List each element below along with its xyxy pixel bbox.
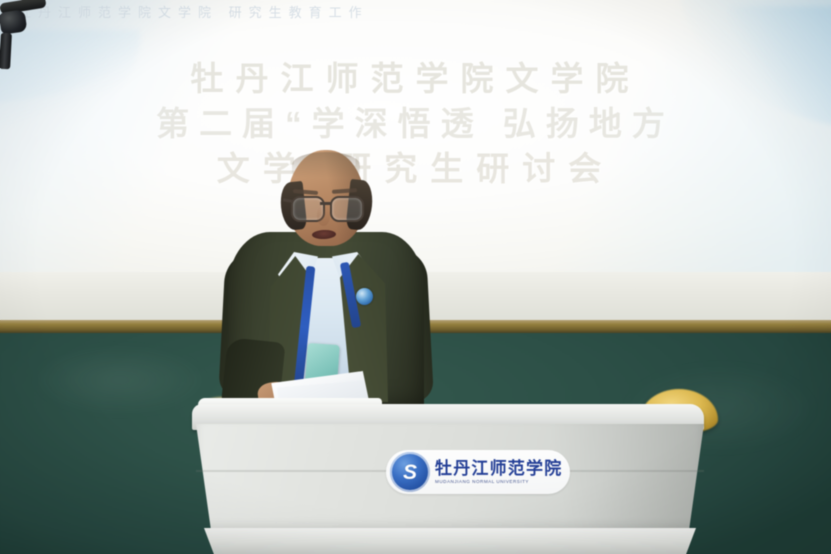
slide-title: 牡丹江师范学院文学院 第二届“学深悟透 弘扬地方 文学”研究生研讨会 xyxy=(0,56,831,191)
university-logo-text: 牡丹江师范学院 MUDANJIANG NORMAL UNIVERSITY xyxy=(435,460,562,485)
university-emblem-icon: S xyxy=(390,452,430,492)
slide-title-line-3: 文学”研究生研讨会 xyxy=(0,146,831,191)
speaker-hair-top xyxy=(292,152,360,178)
slide-title-line-1: 牡丹江师范学院文学院 xyxy=(0,56,831,101)
university-name-chinese: 牡丹江师范学院 xyxy=(435,460,562,478)
eyeglasses-bridge-icon xyxy=(320,202,331,205)
slide-title-line-2: 第二届“学深悟透 弘扬地方 xyxy=(0,101,831,146)
slide-header-text: 牡丹江师范学院文学院 研究生教育工作 xyxy=(18,2,538,21)
eyeglasses-lens-right-icon xyxy=(330,196,364,222)
university-logo-plate: S 牡丹江师范学院 MUDANJIANG NORMAL UNIVERSITY xyxy=(386,450,570,494)
emblem-swirl-glyph: S xyxy=(403,462,417,483)
conference-photo: 牡丹江师范学院文学院 研究生教育工作 牡丹江师范学院文学院 第二届“学深悟透 弘… xyxy=(0,0,831,554)
podium-base xyxy=(204,528,696,554)
microphone-stem xyxy=(0,33,12,70)
speaker-lapel-pin-icon xyxy=(356,288,373,305)
university-name-english: MUDANJIANG NORMAL UNIVERSITY xyxy=(435,479,562,484)
chalkboard-smudge-left xyxy=(30,345,210,415)
speaker-nose xyxy=(317,206,330,226)
